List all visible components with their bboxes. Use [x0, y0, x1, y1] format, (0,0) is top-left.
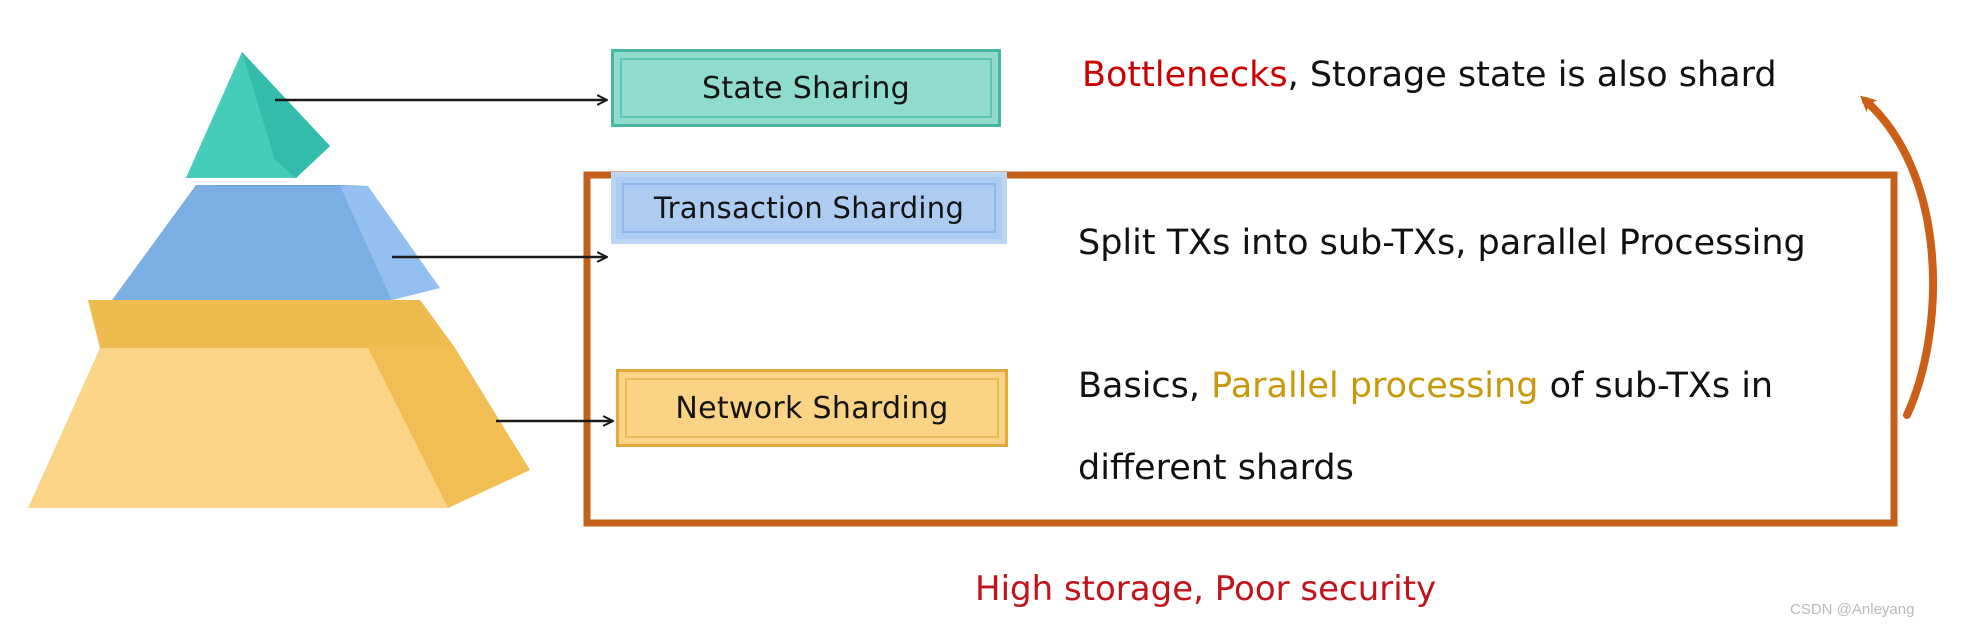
annotation-transaction-sharding-text: Split TXs into sub-TXs, parallel Process… [1078, 223, 1806, 263]
pyramid-bottom-top-face [107, 345, 455, 348]
pyramid-top-side [242, 52, 330, 178]
box-network-sharding[interactable]: Network Sharding [616, 369, 1008, 447]
pyramid-middle-side [340, 185, 440, 300]
pyramid-level-top [186, 52, 330, 178]
annotation-bottlenecks-highlight: Bottlenecks [1082, 55, 1288, 95]
box-state-sharing[interactable]: State Sharing [611, 49, 1001, 127]
annotation-different-shards-text: different shards [1078, 448, 1354, 488]
annotation-network-sharding-suffix: of sub-TXs in [1538, 366, 1773, 406]
csdn-watermark: CSDN @Anleyang [1790, 601, 1914, 618]
box-transaction-sharding-label: Transaction Sharding [654, 191, 964, 225]
pyramid-middle-cap [196, 185, 368, 186]
pyramid-bottom-front [28, 348, 448, 508]
diagram-canvas: State Sharing Transaction Sharding Netwo… [0, 0, 1964, 630]
box-state-sharing-label: State Sharing [702, 71, 910, 106]
box-transaction-sharding[interactable]: Transaction Sharding [611, 172, 1007, 244]
pyramid-top-edge [242, 52, 330, 178]
annotation-network-sharding-line2: different shards [1078, 451, 1354, 486]
pyramid-level-middle [112, 185, 440, 300]
annotation-state-sharing-rest: , Storage state is also shard [1288, 55, 1777, 95]
pyramid-level-bottom [28, 300, 530, 508]
pyramid-middle-front [112, 185, 392, 300]
pyramid-bottom-bevel [88, 300, 455, 348]
box-network-sharding-label: Network Sharding [675, 391, 948, 426]
pyramid-bottom-cap [88, 300, 455, 348]
bottom-summary-note: High storage, Poor security [975, 569, 1436, 609]
annotation-basics-prefix: Basics, [1078, 366, 1211, 406]
feedback-curved-arrow [1866, 101, 1933, 415]
annotation-parallel-processing-highlight: Parallel processing [1211, 366, 1538, 406]
pyramid-top-front [186, 52, 296, 178]
pyramid-bottom-side [368, 348, 530, 508]
annotation-transaction-sharding: Split TXs into sub-TXs, parallel Process… [1078, 226, 1806, 261]
annotation-network-sharding-line1: Basics, Parallel processing of sub-TXs i… [1078, 369, 1773, 404]
annotation-state-sharing: Bottlenecks, Storage state is also shard [1082, 58, 1777, 93]
